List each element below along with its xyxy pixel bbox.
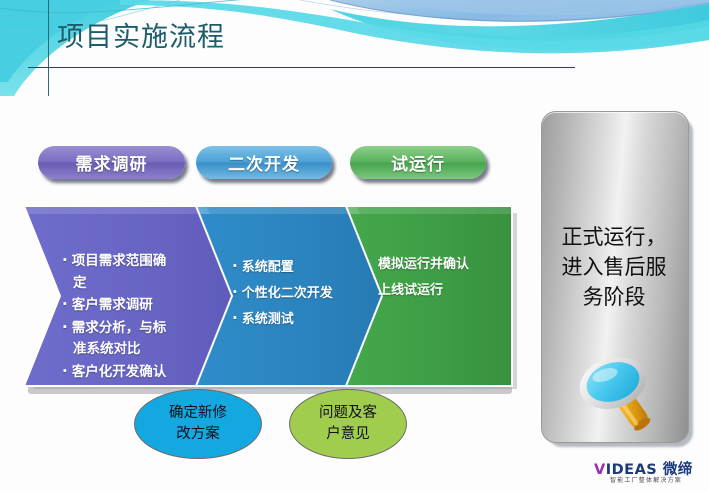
stage-pill-development[interactable]: 二次开发 — [196, 146, 332, 179]
callout-1-line2: 户意见 — [326, 426, 370, 442]
chevron-2-item-0: 系统配置 — [232, 254, 357, 280]
slide-canvas: 项目实施流程 需求调研 二次开发 试运行 — [0, 0, 709, 491]
chevron-1-items: 项目需求范围确 定 客户需求调研 需求分析，与标 准系统对比 客户化开发确认 — [62, 250, 212, 383]
page-title: 项目实施流程 — [57, 20, 225, 56]
title-vertical-rule — [48, 0, 49, 96]
chevron-1-item-2: 客户需求调研 — [62, 294, 212, 317]
magnifier-icon — [569, 352, 661, 436]
chevron-2-item-2: 系统测试 — [232, 306, 357, 332]
final-panel-line1: 正式运行， — [562, 225, 667, 249]
chevron-1-item-0: 项目需求范围确 — [62, 250, 212, 273]
brand-logo: VIDEAS 微缔 智能工厂整体解决方案 — [594, 458, 702, 486]
callout-0-line1: 确定新修 — [169, 405, 227, 421]
callout-1-text: 问题及客 户意见 — [319, 403, 377, 445]
final-panel-line3: 务阶段 — [583, 285, 646, 309]
chevron-2-items: 系统配置 个性化二次开发 系统测试 — [232, 254, 357, 332]
chevron-3-item-0: 模拟运行并确认 — [378, 252, 508, 278]
stage-pill-requirements[interactable]: 需求调研 — [38, 146, 185, 179]
chevron-2-item-1: 个性化二次开发 — [232, 280, 357, 306]
callout-0-text: 确定新修 改方案 — [169, 403, 227, 445]
chevron-3-item-1: 上线试运行 — [378, 278, 508, 304]
logo-v-mark: V — [594, 462, 606, 478]
final-panel-text: 正式运行， 进入售后服 务阶段 — [546, 222, 682, 312]
title-horizontal-rule — [28, 67, 575, 68]
callout-revision-plan[interactable]: 确定新修 改方案 — [134, 389, 262, 459]
logo-tagline: 智能工厂整体解决方案 — [610, 475, 682, 484]
callout-issues-feedback[interactable]: 问题及客 户意见 — [289, 389, 407, 459]
stage-pill-trial-run[interactable]: 试运行 — [350, 146, 486, 179]
chevron-1-item-5: 客户化开发确认 — [62, 361, 212, 384]
chevron-3-items: 模拟运行并确认 上线试运行 — [378, 252, 508, 304]
final-panel-line2: 进入售后服 — [562, 255, 667, 279]
callout-1-line1: 问题及客 — [319, 405, 377, 421]
callout-0-line2: 改方案 — [176, 426, 220, 442]
chevron-1-item-4: 准系统对比 — [62, 339, 212, 361]
chevron-1-item-3: 需求分析，与标 — [62, 317, 212, 340]
chevron-1-item-1: 定 — [62, 273, 212, 295]
